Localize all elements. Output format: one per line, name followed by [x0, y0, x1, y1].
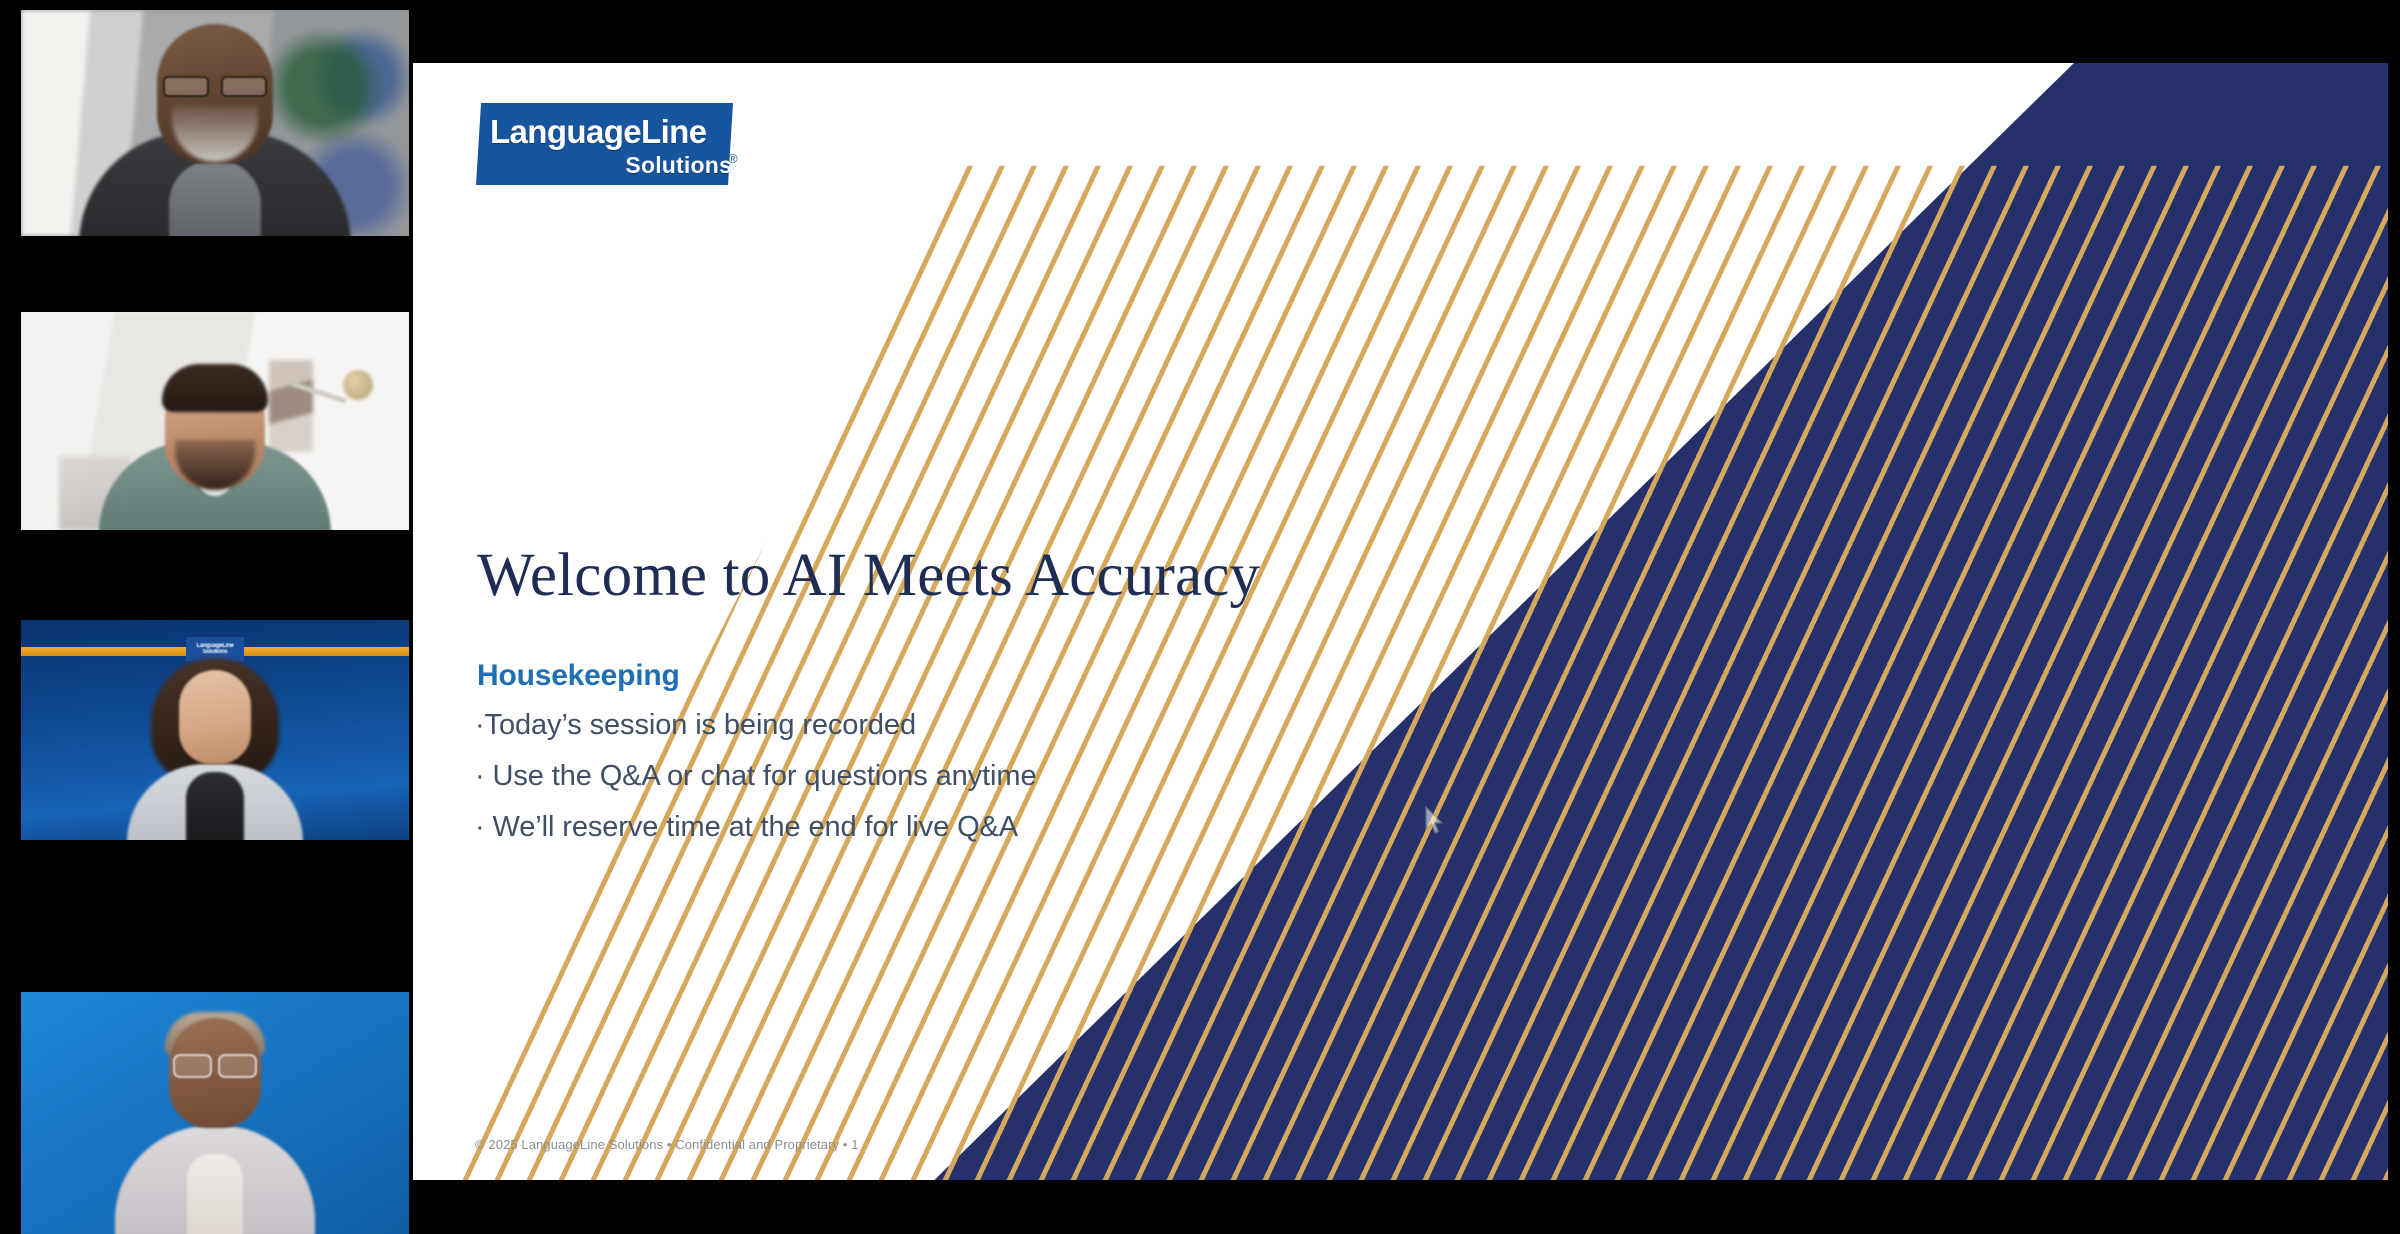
participant-2-hair — [162, 364, 268, 412]
participant-video-tile-3[interactable]: LanguageLine Solutions — [21, 612, 409, 894]
participant-video-tile-4[interactable] — [21, 950, 409, 1234]
housekeeping-bullet-list: ·Today’s session is being recorded · Use… — [475, 711, 1036, 864]
registered-trademark-icon: ® — [728, 151, 738, 166]
slide-subheading-housekeeping: Housekeeping — [477, 659, 680, 693]
video-feed-1 — [21, 10, 409, 236]
wall-art-decor — [269, 360, 313, 452]
gold-diagonal-stripe-pattern — [413, 63, 2388, 1180]
logo-text: LanguageLine Solutions — [490, 107, 738, 185]
participant-3-head — [179, 670, 251, 764]
participant-3-top — [186, 772, 244, 840]
participant-1-glasses-icon — [163, 76, 267, 93]
video-feed-3: LanguageLine Solutions — [21, 620, 409, 840]
shared-presentation-slide[interactable]: LanguageLine Solutions ® Welcome to AI M… — [413, 63, 2388, 1180]
participant-video-tile-2[interactable] — [21, 300, 409, 584]
participant-filmstrip: LanguageLine Solutions — [0, 0, 409, 1234]
participant-4-glasses-icon — [173, 1054, 257, 1074]
logo-line-languageline: LanguageLine — [490, 115, 738, 148]
brand-logo-badge-line2: Solutions — [203, 649, 228, 655]
video-feed-2 — [21, 312, 409, 530]
slide-title: Welcome to AI Meets Accuracy — [477, 541, 1260, 611]
logo-line-solutions: Solutions — [490, 154, 738, 177]
participant-4-blouse — [187, 1154, 243, 1234]
languageline-logo: LanguageLine Solutions ® — [476, 103, 744, 188]
list-item: ·Today’s session is being recorded — [475, 711, 1036, 740]
participant-1-shirt — [169, 160, 261, 236]
participant-video-tile-1[interactable] — [21, 0, 409, 268]
lamp-shade-decor — [343, 370, 373, 400]
slide-footer-copyright: © 2025 LanguageLine Solutions • Confiden… — [475, 1137, 859, 1152]
video-feed-4 — [21, 992, 409, 1234]
list-item: · Use the Q&A or chat for questions anyt… — [475, 762, 1036, 791]
list-item: · We’ll reserve time at the end for live… — [475, 813, 1036, 842]
video-conference-window: LanguageLine Solutions — [0, 0, 2400, 1234]
